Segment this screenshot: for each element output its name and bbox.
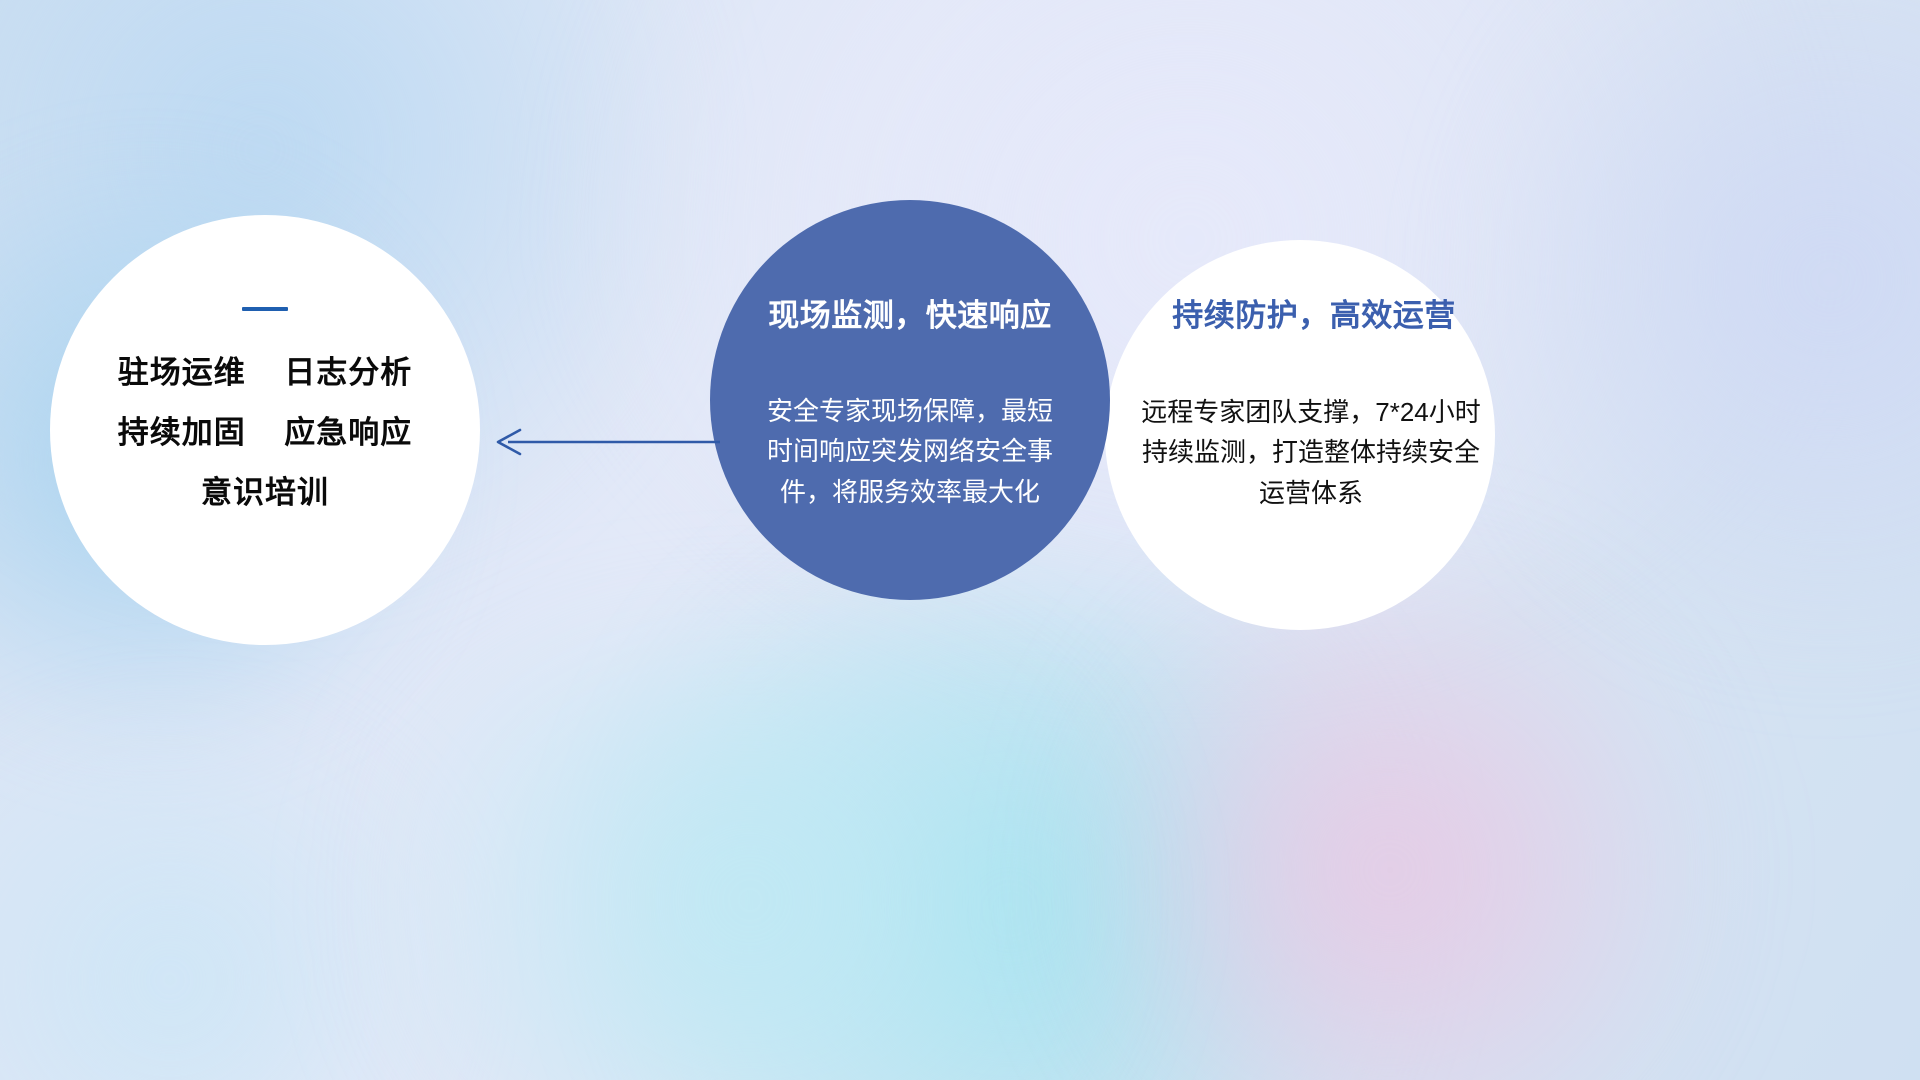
middle-circle-content: 现场监测，快速响应 安全专家现场保障，最短时间响应突发网络安全事件，将服务效率最… [710, 200, 1110, 600]
left-circle-content: 驻场运维 日志分析 持续加固 应急响应 意识培训 [50, 215, 480, 645]
left-circle-line-1: 驻场运维 日志分析 [118, 357, 412, 388]
left-circle-line-2: 持续加固 应急响应 [118, 417, 412, 448]
right-circle-body: 远程专家团队支撑，7*24小时持续监测，打造整体持续安全运营体系 [1130, 392, 1492, 513]
right-circle-content: 持续防护，高效运营 远程专家团队支撑，7*24小时持续监测，打造整体持续安全运营… [1105, 240, 1495, 630]
divider-dash-icon [242, 307, 288, 311]
leftward-arrow [490, 418, 720, 466]
middle-circle-title: 现场监测，快速响应 [768, 290, 1052, 335]
right-circle-title: 持续防护，高效运营 [1172, 290, 1456, 335]
middle-circle-body: 安全专家现场保障，最短时间响应突发网络安全事件，将服务效率最大化 [760, 391, 1060, 512]
left-circle-line-3: 意识培训 [201, 477, 329, 508]
